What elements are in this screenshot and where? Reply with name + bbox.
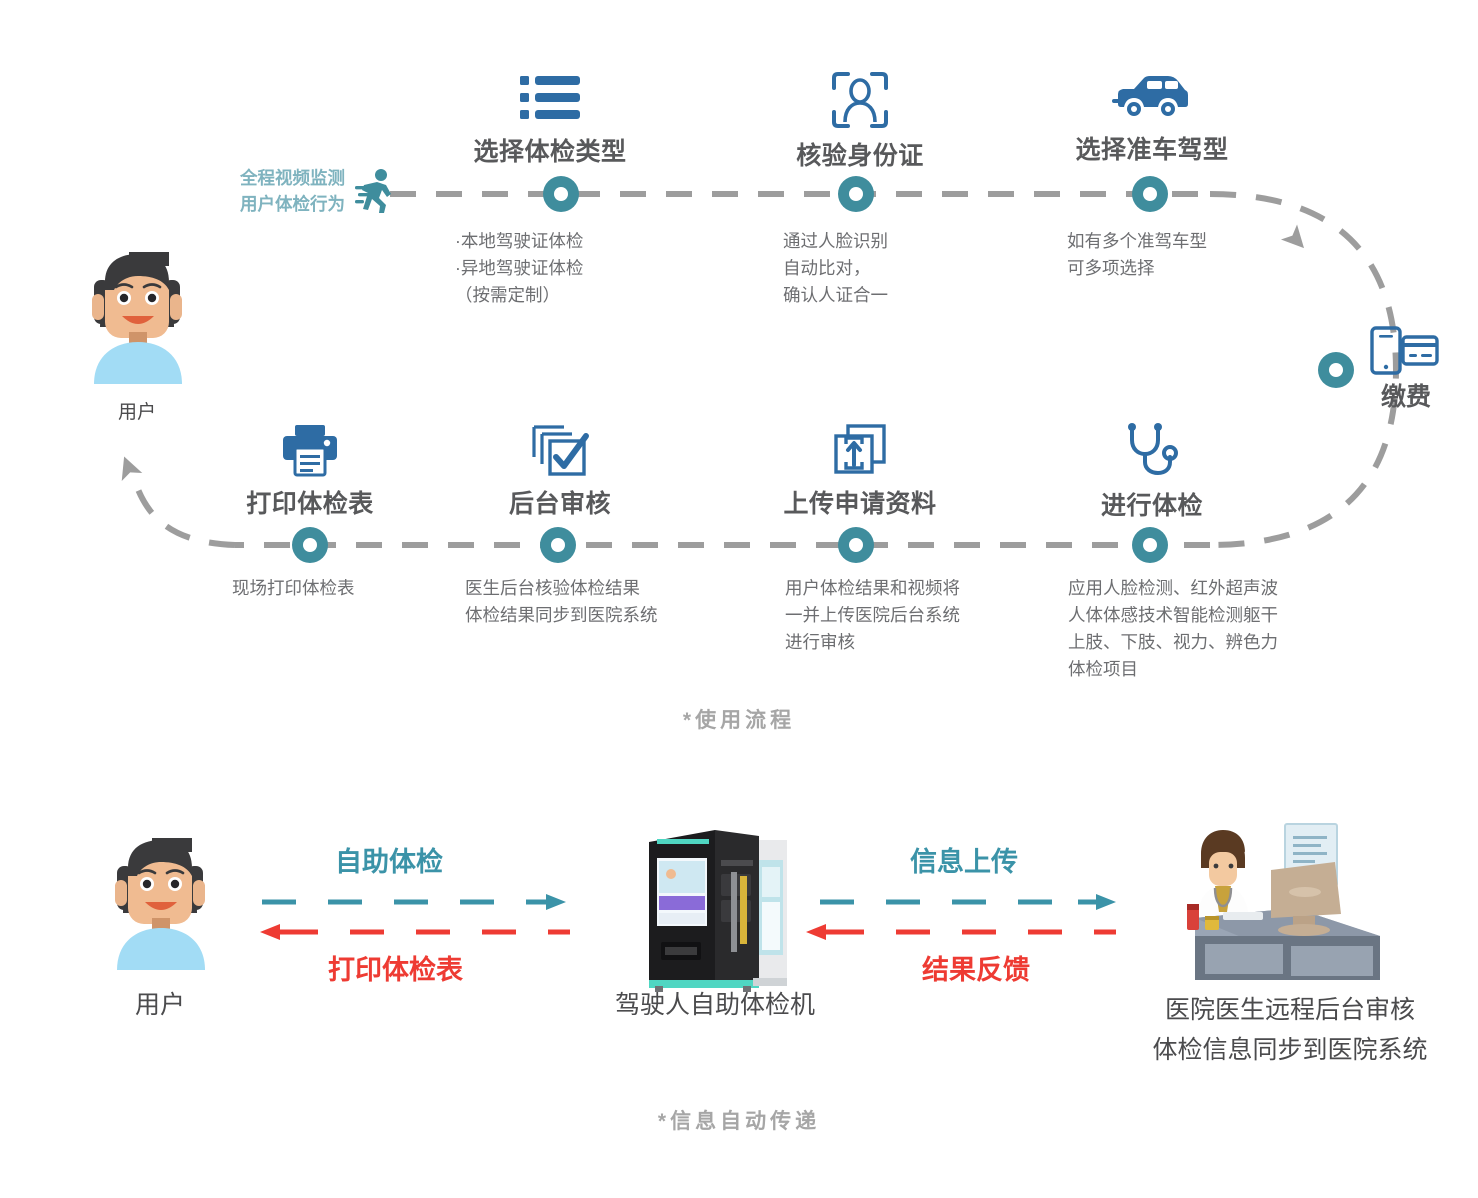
flow-arrows-user-kiosk: 自助体检 打印体检表 xyxy=(250,840,580,980)
step-print-report: 打印体检表 xyxy=(190,424,430,520)
user-label: 用户 xyxy=(72,398,202,428)
face-id-scan-icon xyxy=(730,72,990,128)
doctor-desk-illustration xyxy=(1175,818,1395,990)
flow-arrows-kiosk-doctor: 信息上传 结果反馈 xyxy=(800,840,1130,980)
flow-label-backward: 结果反馈 xyxy=(922,948,1030,987)
self-service-kiosk-illustration xyxy=(635,812,795,992)
step-backend-review: 后台审核 xyxy=(440,424,680,520)
step-upload-materials: 上传申请资料 xyxy=(740,424,980,520)
flow-node-7 xyxy=(1132,527,1168,563)
flow-node-3 xyxy=(1132,176,1168,212)
payment-label: 缴费 xyxy=(1370,382,1442,412)
step-select-vehicle-type: 选择准车驾型 xyxy=(1022,72,1282,166)
step-description: 如有多个准驾车型 可多项选择 xyxy=(1067,228,1327,282)
step-description: 现场打印体检表 xyxy=(232,575,492,602)
step-title: 进行体检 xyxy=(1032,486,1272,522)
actor-caption-doctor: 医院医生远程后台审核 体检信息同步到医院系统 xyxy=(1110,990,1470,1070)
flow-node-1 xyxy=(543,176,579,212)
step-title: 选择准车驾型 xyxy=(1022,130,1282,166)
step-title: 上传申请资料 xyxy=(740,484,980,520)
user-avatar-illustration xyxy=(72,232,202,387)
process-footnote: *使用流程 xyxy=(0,704,1478,734)
step-title: 核验身份证 xyxy=(730,136,990,172)
flow-node-payment xyxy=(1318,352,1354,388)
step-verify-id: 核验身份证 xyxy=(730,72,990,172)
video-monitoring-note: 全程视频监测 用户体检行为 xyxy=(200,165,345,217)
step-perform-exam: 进行体检 xyxy=(1032,424,1272,522)
running-person-icon xyxy=(355,168,395,214)
flow-label-forward: 自助体检 xyxy=(335,840,443,879)
flow-node-6 xyxy=(838,527,874,563)
checklist-approve-icon xyxy=(440,424,680,476)
step-description: 应用人脸检测、红外超声波 人体体感技术智能检测躯干 上肢、下肢、视力、辨色力 体… xyxy=(1068,575,1368,683)
flow-node-5 xyxy=(540,527,576,563)
list-icon xyxy=(420,72,680,124)
step-title: 选择体检类型 xyxy=(420,132,680,168)
flow-label-backward: 打印体检表 xyxy=(328,948,463,987)
step-description: 医生后台核验体检结果 体检结果同步到医院系统 xyxy=(465,575,795,629)
info-transfer-section: 用户 驾驶人自助体检机 xyxy=(0,790,1478,1198)
flow-node-4 xyxy=(292,527,328,563)
actor-caption-user: 用户 xyxy=(95,990,225,1020)
step-description: ·本地驾驶证体检 ·异地驾驶证体检 （按需定制） xyxy=(455,228,705,309)
upload-documents-icon xyxy=(740,424,980,476)
actor-caption-kiosk: 驾驶人自助体检机 xyxy=(575,990,855,1020)
printer-icon xyxy=(190,424,430,476)
flow-label-forward: 信息上传 xyxy=(910,840,1018,879)
step-description: 用户体检结果和视频将 一并上传医院后台系统 进行审核 xyxy=(785,575,1065,656)
car-icon xyxy=(1022,72,1282,122)
flow-node-2 xyxy=(838,176,874,212)
step-select-exam-type: 选择体检类型 xyxy=(420,72,680,168)
transfer-footnote: *信息自动传递 xyxy=(0,1105,1478,1135)
step-title: 打印体检表 xyxy=(190,484,430,520)
process-flow-section: 全程视频监测 用户体检行为 xyxy=(0,0,1478,760)
stethoscope-icon xyxy=(1032,424,1272,478)
mobile-payment-icon xyxy=(1370,326,1440,380)
step-description: 通过人脸识别 自动比对， 确认人证合一 xyxy=(783,228,1033,309)
step-title: 后台审核 xyxy=(440,484,680,520)
user-avatar-illustration xyxy=(95,818,225,973)
